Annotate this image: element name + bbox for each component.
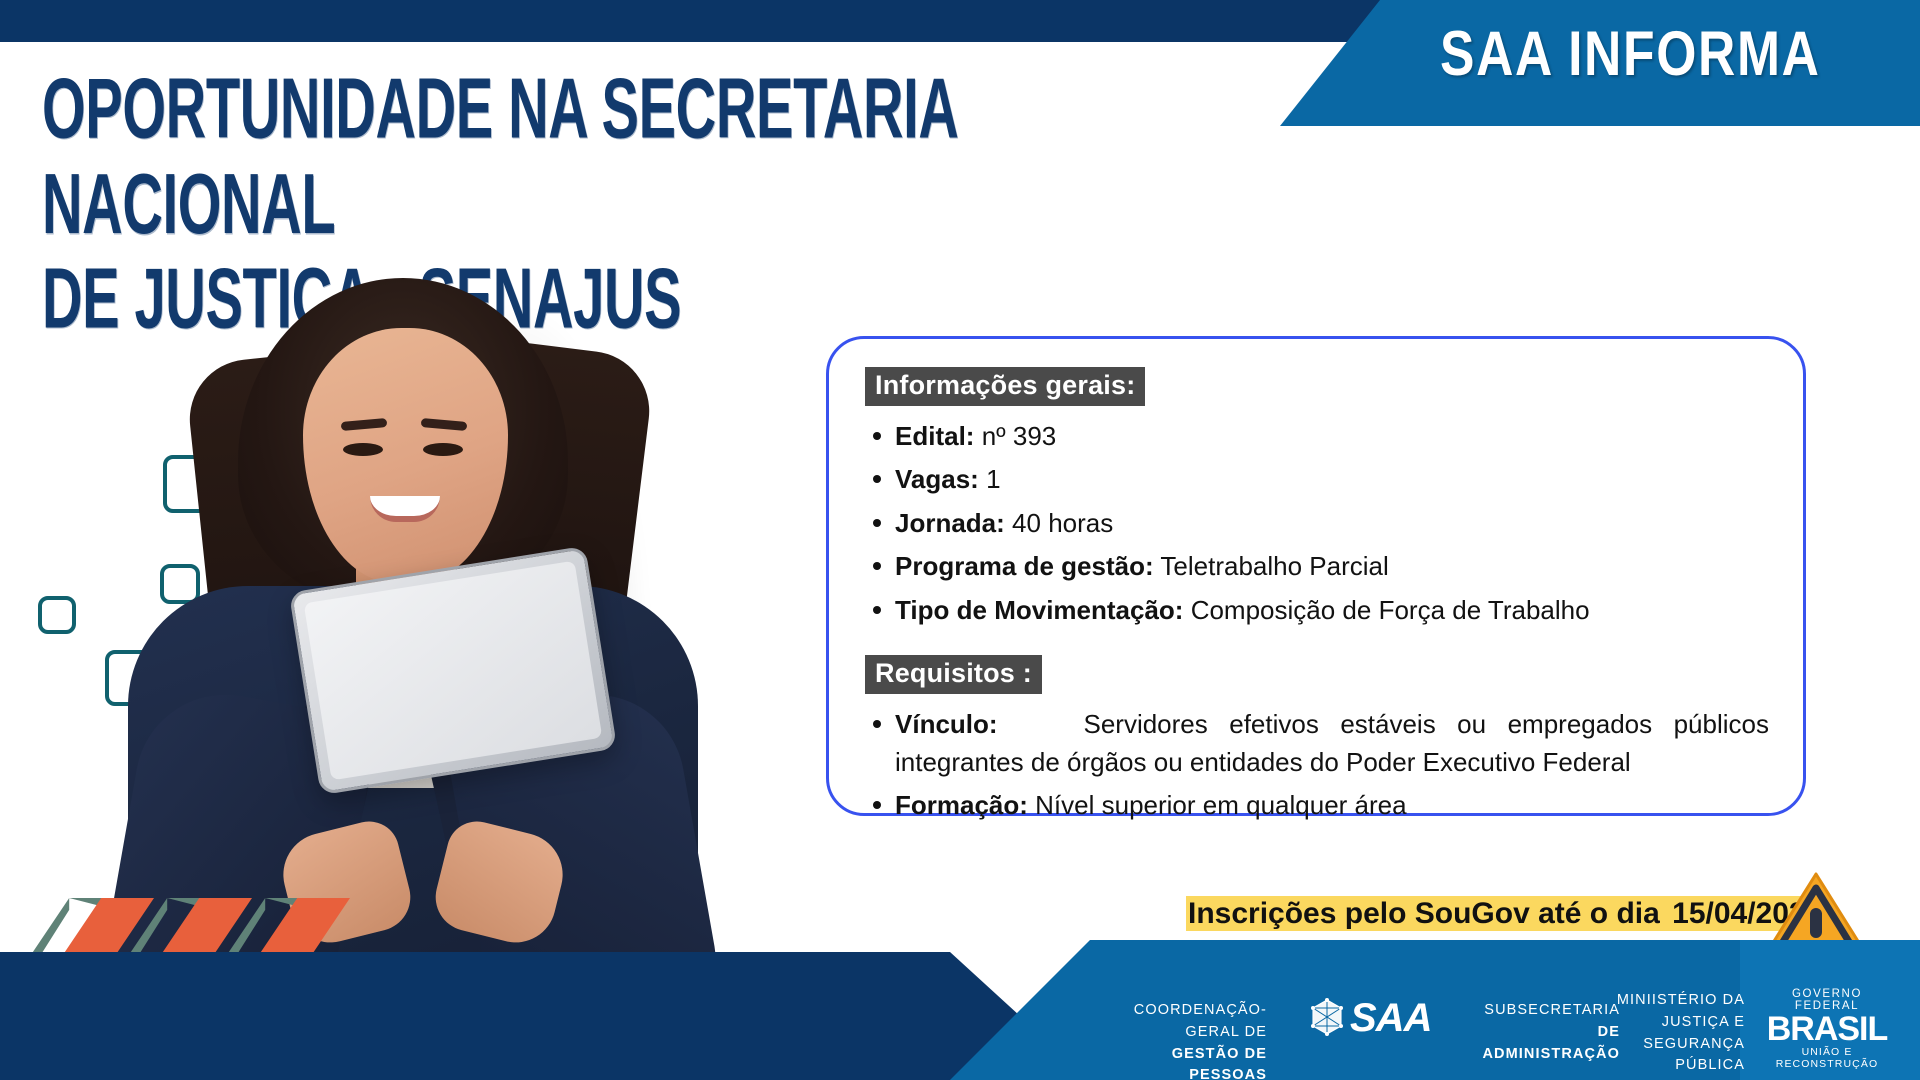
brasil-word: BRASIL [1762,1012,1892,1046]
cggp-line-2: GESTÃO DE PESSOAS [1097,1044,1267,1080]
requirements-list: Vínculo: Servidores efetivos estáveis ou… [865,706,1769,824]
item-value: Servidores efetivos estáveis ou empregad… [895,709,1769,776]
item-value: Composição de Força de Trabalho [1191,595,1590,625]
item-label: Edital: [895,421,974,451]
subsecretaria-text: SUBSECRETARIA DE ADMINISTRAÇÃO [1470,1000,1620,1065]
top-navy-band [0,0,1430,42]
photo-face [303,328,508,583]
photo-brow-left [341,418,388,431]
item-label: Programa de gestão: [895,551,1154,581]
list-item: Vagas: 1 [865,461,1769,498]
list-item: Formação: Nível superior em qualquer áre… [865,787,1769,824]
brasil-bottom-text: UNIÃO E RECONSTRUÇÃO [1762,1046,1892,1070]
poster-canvas: SAA INFORMA OPORTUNIDADE NA SECRETARIA N… [0,0,1920,1080]
item-value: 40 horas [1012,508,1113,538]
photo-brow-right [421,418,468,431]
saa-polyhedron-icon [1307,997,1347,1037]
brasil-top-text: GOVERNO FEDERAL [1762,988,1892,1012]
item-label: Jornada: [895,508,1005,538]
subsec-line-1: SUBSECRETARIA [1470,1000,1620,1022]
item-label: Vínculo: [895,709,998,739]
item-value: Teletrabalho Parcial [1160,551,1388,581]
item-value: nº 393 [982,421,1057,451]
ministry-line-2: JUSTIÇA E [1600,1012,1745,1034]
general-info-list: Edital: nº 393 Vagas: 1 Jornada: 40 hora… [865,418,1769,629]
photo-eye-left [343,443,383,456]
decor-square-4 [38,596,76,634]
cggp-logo-text: COORDENAÇÃO-GERAL DE GESTÃO DE PESSOAS [1097,1000,1267,1080]
photo-eye-right [423,443,463,456]
ministry-line-1: MINIISTÉRIO DA [1600,990,1745,1012]
subsec-line-2: DE ADMINISTRAÇÃO [1470,1022,1620,1066]
info-card: Informações gerais: Edital: nº 393 Vagas… [826,336,1806,816]
item-label: Vagas: [895,464,979,494]
item-value: Nível superior em qualquer área [1035,790,1406,820]
requirements-heading: Requisitos : [865,655,1042,694]
ministry-text: MINIISTÉRIO DA JUSTIÇA E SEGURANÇA PÚBLI… [1600,990,1745,1077]
general-info-heading: Informações gerais: [865,367,1145,406]
list-item: Vínculo: Servidores efetivos estáveis ou… [865,706,1769,781]
list-item: Tipo de Movimentação: Composição de Forç… [865,592,1769,629]
brasil-government-logo: GOVERNO FEDERAL BRASIL UNIÃO E RECONSTRU… [1762,988,1892,1070]
list-item: Programa de gestão: Teletrabalho Parcial [865,548,1769,585]
deadline-text: Inscrições pelo SouGov até o dia 15/04/2… [1186,897,1824,931]
list-item: Jornada: 40 horas [865,505,1769,542]
photo-tablet-screen [304,561,603,781]
saa-informa-title: SAA INFORMA [1440,18,1817,98]
deadline-prefix: Inscrições pelo SouGov até o dia [1186,896,1670,931]
item-label: Formação: [895,790,1028,820]
item-label: Tipo de Movimentação: [895,595,1183,625]
item-value: 1 [986,464,1000,494]
list-item: Edital: nº 393 [865,418,1769,455]
ministry-line-3: SEGURANÇA PÚBLICA [1600,1034,1745,1078]
cggp-line-1: COORDENAÇÃO-GERAL DE [1097,1000,1267,1044]
saa-logo-word: SAA [1350,996,1431,1041]
